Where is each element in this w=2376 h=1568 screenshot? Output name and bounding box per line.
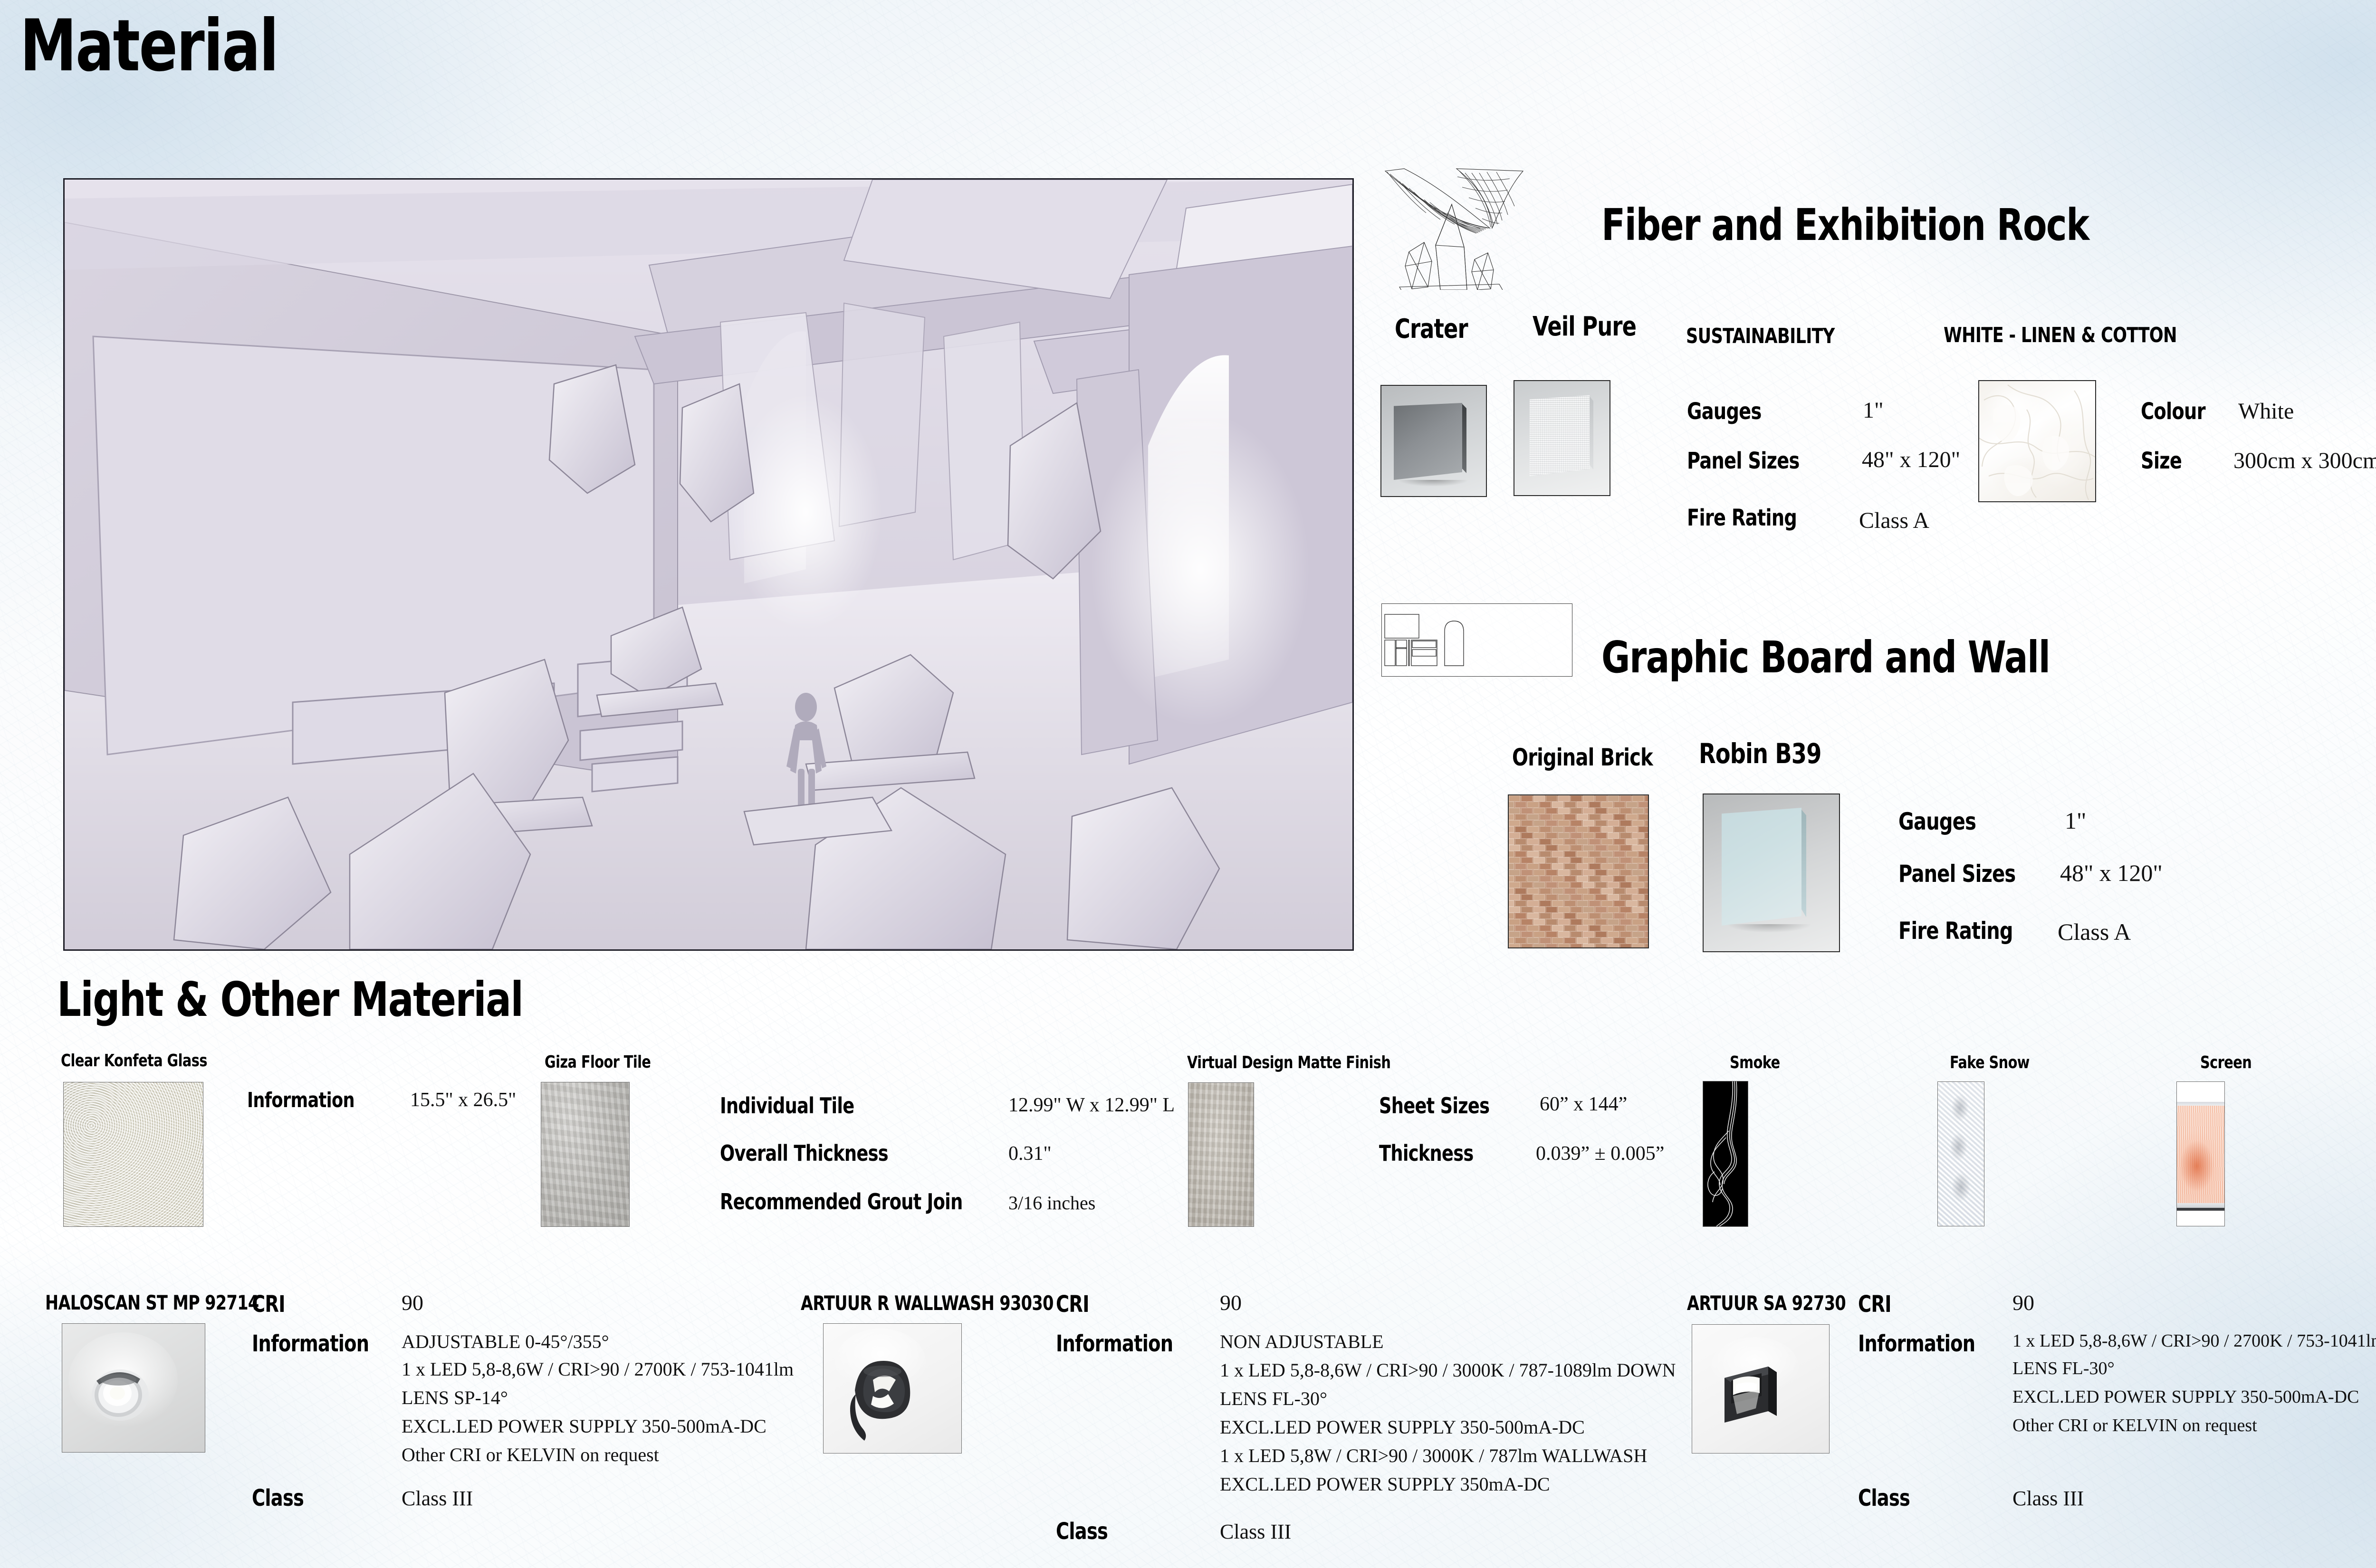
swatch-clear-konfeta-glass [63, 1082, 203, 1227]
spec-value-fire-rating: Class A [1859, 507, 1929, 534]
fiber-section-title: Fiber and Exhibition Rock [1601, 200, 2089, 250]
giza-spec-label-overall-thickness: Overall Thickness [720, 1140, 888, 1166]
light-photo-haloscan [62, 1323, 205, 1453]
light-info-line-3-artuur-r-wallwash: LENS FL-30° [1220, 1387, 1327, 1410]
light-info-label-haloscan: Information [252, 1330, 369, 1357]
graphic-spec-value-gauges: 1" [2065, 807, 2086, 834]
light-cri-label-haloscan: CRI [252, 1291, 285, 1318]
matte-spec-value-sheet-sizes: 60” x 144” [1540, 1093, 1627, 1116]
light-info-line-4-haloscan: EXCL.LED POWER SUPPLY 350-500mA-DC [402, 1415, 766, 1437]
light-photo-artuur-sa [1692, 1324, 1830, 1453]
light-info-line-4-artuur-r-wallwash: EXCL.LED POWER SUPPLY 350-500mA-DC [1220, 1416, 1585, 1438]
spec-label-fire-rating: Fire Rating [1687, 505, 1797, 531]
fabric-value-colour: White [2238, 398, 2294, 424]
graphic-spec-value-fire-rating: Class A [2058, 918, 2131, 946]
light-class-value-artuur-r-wallwash: Class III [1220, 1520, 1291, 1544]
light-name-haloscan: HALOSCAN ST MP 92714 [45, 1291, 259, 1314]
swatch-smoke [1703, 1081, 1748, 1227]
light-info-label-artuur-r-wallwash: Information [1056, 1330, 1173, 1357]
swatch-white-linen-cotton [1978, 380, 2096, 502]
light-cri-label-artuur-sa: CRI [1858, 1291, 1891, 1318]
giza-spec-value-individual-tile: 12.99" W x 12.99" L [1008, 1094, 1175, 1117]
matte-spec-label-thickness: Thickness [1379, 1140, 1474, 1166]
light-cri-value-artuur-r-wallwash: 90 [1220, 1290, 1242, 1315]
fabric-label-size: Size [2141, 448, 2182, 474]
light-info-line-6-artuur-r-wallwash: EXCL.LED POWER SUPPLY 350mA-DC [1220, 1473, 1550, 1495]
light-info-line-3-haloscan: LENS SP-14° [402, 1386, 508, 1409]
swatch-giza-floor-tile [541, 1082, 630, 1227]
swatch-label-crater: Crater [1395, 314, 1468, 344]
swatch-fake-snow [1937, 1081, 1984, 1226]
light-info-line-2-artuur-sa: LENS FL-30° [2012, 1358, 2115, 1379]
graphic-spec-value-panel-sizes: 48" x 120" [2060, 859, 2163, 887]
light-cri-value-haloscan: 90 [402, 1290, 423, 1315]
fabric-value-size: 300cm x 300cm [2233, 448, 2376, 474]
swatch-label-smoke: Smoke [1730, 1053, 1780, 1072]
swatch-label-screen: Screen [2200, 1053, 2251, 1072]
light-info-line-2-artuur-r-wallwash: 1 x LED 5,8-8,6W / CRI>90 / 3000K / 787-… [1220, 1359, 1676, 1381]
poster-content: Material [0, 0, 2376, 1568]
graphic-spec-label-gauges: Gauges [1898, 808, 1976, 835]
light-name-artuur-r-wallwash: ARTUUR R WALLWASH 93030 [801, 1291, 1054, 1315]
spec-label-gauges: Gauges [1687, 398, 1762, 425]
light-info-line-4-artuur-sa: Other CRI or KELVIN on request [2012, 1415, 2257, 1436]
spec-value-panel-sizes: 48" x 120" [1862, 447, 1960, 473]
wall-elevation-icon [1381, 603, 1572, 677]
light-info-line-1-haloscan: ADJUSTABLE 0-45°/355° [402, 1330, 609, 1353]
swatch-robin-b39 [1703, 794, 1840, 952]
graphic-spec-label-panel-sizes: Panel Sizes [1898, 860, 2015, 888]
light-info-line-1-artuur-sa: 1 x LED 5,8-8,6W / CRI>90 / 2700K / 753-… [2012, 1330, 2376, 1351]
light-class-label-haloscan: Class [252, 1485, 304, 1511]
light-info-line-5-haloscan: Other CRI or KELVIN on request [402, 1444, 659, 1466]
swatch-label-giza-floor-tile: Giza Floor Tile [545, 1052, 651, 1072]
giza-spec-value-grout-join: 3/16 inches [1008, 1192, 1095, 1214]
light-class-label-artuur-r-wallwash: Class [1056, 1518, 1108, 1545]
light-class-label-artuur-sa: Class [1858, 1485, 1910, 1511]
light-info-line-1-artuur-r-wallwash: NON ADJUSTABLE [1220, 1330, 1384, 1353]
light-photo-artuur-r-wallwash [823, 1323, 962, 1453]
light-info-label-artuur-sa: Information [1858, 1330, 1975, 1357]
swatch-crater [1380, 385, 1487, 497]
swatch-virtual-design-matte-finish [1188, 1082, 1254, 1227]
matte-spec-label-sheet-sizes: Sheet Sizes [1379, 1093, 1489, 1119]
fabric-label-colour: Colour [2141, 398, 2205, 425]
swatch-screen [2176, 1081, 2225, 1226]
giza-spec-label-grout-join: Recommended Grout Join [720, 1189, 963, 1214]
graphic-section-title: Graphic Board and Wall [1601, 632, 2050, 683]
giza-spec-label-individual-tile: Individual Tile [720, 1093, 854, 1119]
sustainability-heading: SUSTAINABILITY [1686, 324, 1835, 348]
rock-wireframe-icon [1380, 152, 1580, 290]
light-class-value-haloscan: Class III [402, 1486, 473, 1511]
swatch-veil-pure [1514, 380, 1610, 496]
light-class-value-artuur-sa: Class III [2012, 1486, 2084, 1511]
page-title: Material [20, 10, 278, 82]
interior-render-image [63, 178, 1354, 951]
light-info-line-5-artuur-r-wallwash: 1 x LED 5,8W / CRI>90 / 3000K / 787lm WA… [1220, 1444, 1647, 1467]
light-cri-value-artuur-sa: 90 [2012, 1290, 2034, 1315]
swatch-label-robin-b39: Robin B39 [1699, 737, 1821, 770]
giza-spec-value-overall-thickness: 0.31" [1008, 1142, 1052, 1165]
swatch-original-brick [1508, 794, 1649, 948]
light-info-line-3-artuur-sa: EXCL.LED POWER SUPPLY 350-500mA-DC [2012, 1386, 2359, 1407]
konfeta-spec-value-information: 15.5" x 26.5" [410, 1089, 516, 1111]
light-cri-label-artuur-r-wallwash: CRI [1056, 1291, 1089, 1318]
swatch-label-fake-snow: Fake Snow [1950, 1053, 2030, 1072]
light-section-title: Light & Other Material [57, 972, 523, 1027]
swatch-label-clear-konfeta-glass: Clear Konfeta Glass [61, 1051, 207, 1071]
matte-spec-value-thickness: 0.039” ± 0.005” [1536, 1142, 1664, 1165]
swatch-label-virtual-design-matte-finish: Virtual Design Matte Finish [1187, 1053, 1390, 1072]
graphic-spec-label-fire-rating: Fire Rating [1898, 917, 2013, 945]
spec-label-panel-sizes: Panel Sizes [1687, 448, 1800, 474]
fabric-heading: WHITE - LINEN & COTTON [1944, 323, 2177, 347]
light-info-line-2-haloscan: 1 x LED 5,8-8,6W / CRI>90 / 2700K / 753-… [402, 1358, 794, 1380]
konfeta-spec-label-information: Information [247, 1088, 354, 1112]
swatch-label-veil-pure: Veil Pure [1533, 311, 1636, 342]
light-name-artuur-sa: ARTUUR SA 92730 [1687, 1291, 1846, 1315]
spec-value-gauges: 1" [1863, 397, 1884, 423]
swatch-label-original-brick: Original Brick [1512, 744, 1653, 771]
